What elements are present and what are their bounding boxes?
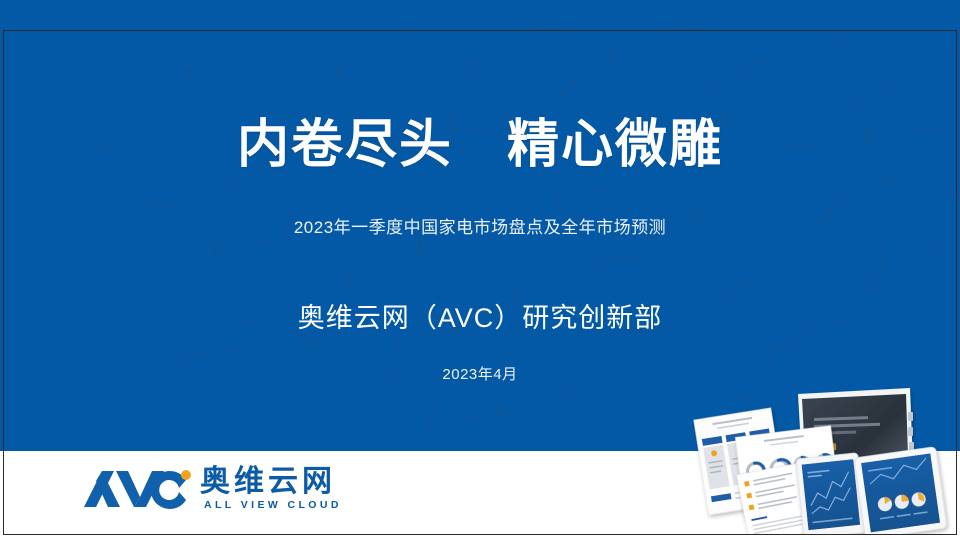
title-text-block: 内卷尽头 精心微雕 2023年一季度中国家电市场盘点及全年市场预测 奥维云网（A… <box>0 0 960 451</box>
frame-line-right <box>956 30 957 535</box>
hero-background: 内卷尽头 精心微雕 2023年一季度中国家电市场盘点及全年市场预测 奥维云网（A… <box>0 0 960 451</box>
logo-chinese-name: 奥维云网 <box>200 465 336 499</box>
publication-date: 2023年4月 <box>0 364 960 386</box>
frame-line-left <box>3 30 4 535</box>
logo-english-name: ALL VIEW CLOUD <box>204 499 342 512</box>
frame-line-top <box>3 30 957 31</box>
page-subtitle: 2023年一季度中国家电市场盘点及全年市场预测 <box>0 216 960 240</box>
device-collage-illustration <box>688 386 960 534</box>
avc-logomark-icon <box>82 467 194 511</box>
organization-name: 奥维云网（AVC）研究创新部 <box>0 300 960 336</box>
avc-logo: 奥维云网 ALL VIEW CLOUD <box>82 463 352 525</box>
frame-line-bottom <box>3 534 957 535</box>
page-title: 内卷尽头 精心微雕 <box>0 114 960 176</box>
tablet-gauges <box>854 447 947 534</box>
title-slide: 内卷尽头 精心微雕 2023年一季度中国家电市场盘点及全年市场预测 奥维云网（A… <box>0 0 960 540</box>
